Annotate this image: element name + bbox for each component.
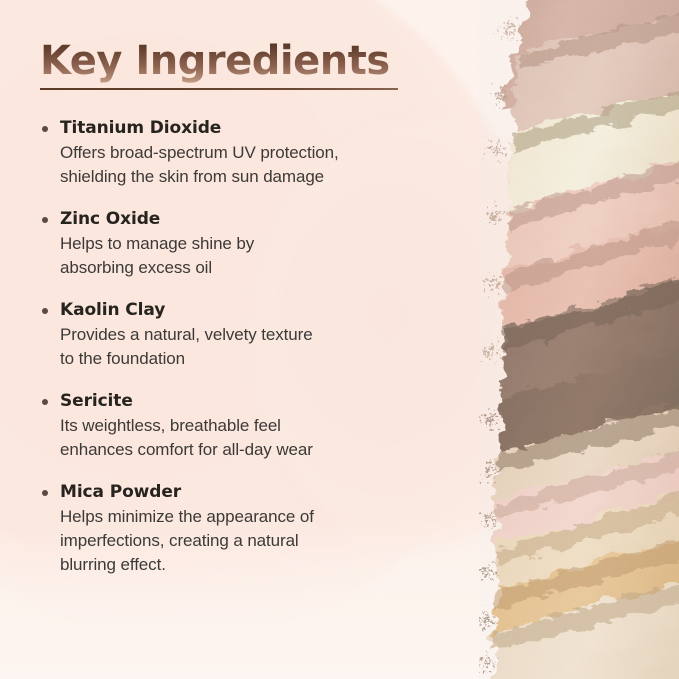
ingredient-name: Mica Powder (60, 481, 460, 504)
ingredient-description: Helps minimize the appearance of imperfe… (60, 505, 460, 577)
list-item: Titanium Dioxide Offers broad-spectrum U… (40, 117, 460, 189)
ingredient-name: Titanium Dioxide (60, 117, 460, 140)
ingredient-description: Helps to manage shine by absorbing exces… (60, 232, 460, 280)
ingredient-name: Kaolin Clay (60, 299, 460, 322)
list-item: Zinc Oxide Helps to manage shine by abso… (40, 208, 460, 280)
bullet-icon (42, 490, 48, 496)
bullet-icon (42, 308, 48, 314)
title-underline (40, 88, 398, 90)
bullet-icon (42, 126, 48, 132)
bullet-icon (42, 217, 48, 223)
ingredient-name: Zinc Oxide (60, 208, 460, 231)
ingredient-name: Sericite (60, 390, 460, 413)
page-title: Key Ingredients (40, 38, 390, 84)
powder-swatch-artwork (479, 0, 679, 679)
ingredient-description: Its weightless, breathable feel enhances… (60, 414, 460, 462)
page-title-block: Key Ingredients (40, 38, 460, 84)
bullet-icon (42, 399, 48, 405)
ingredient-description: Offers broad-spectrum UV protection, shi… (60, 141, 460, 189)
ingredient-infographic: Key Ingredients Titanium Dioxide Offers … (0, 0, 679, 679)
ingredients-list: Titanium Dioxide Offers broad-spectrum U… (40, 117, 460, 577)
ingredient-description: Provides a natural, velvety texture to t… (60, 323, 460, 371)
list-item: Kaolin Clay Provides a natural, velvety … (40, 299, 460, 371)
list-item: Sericite Its weightless, breathable feel… (40, 390, 460, 462)
list-item: Mica Powder Helps minimize the appearanc… (40, 481, 460, 577)
